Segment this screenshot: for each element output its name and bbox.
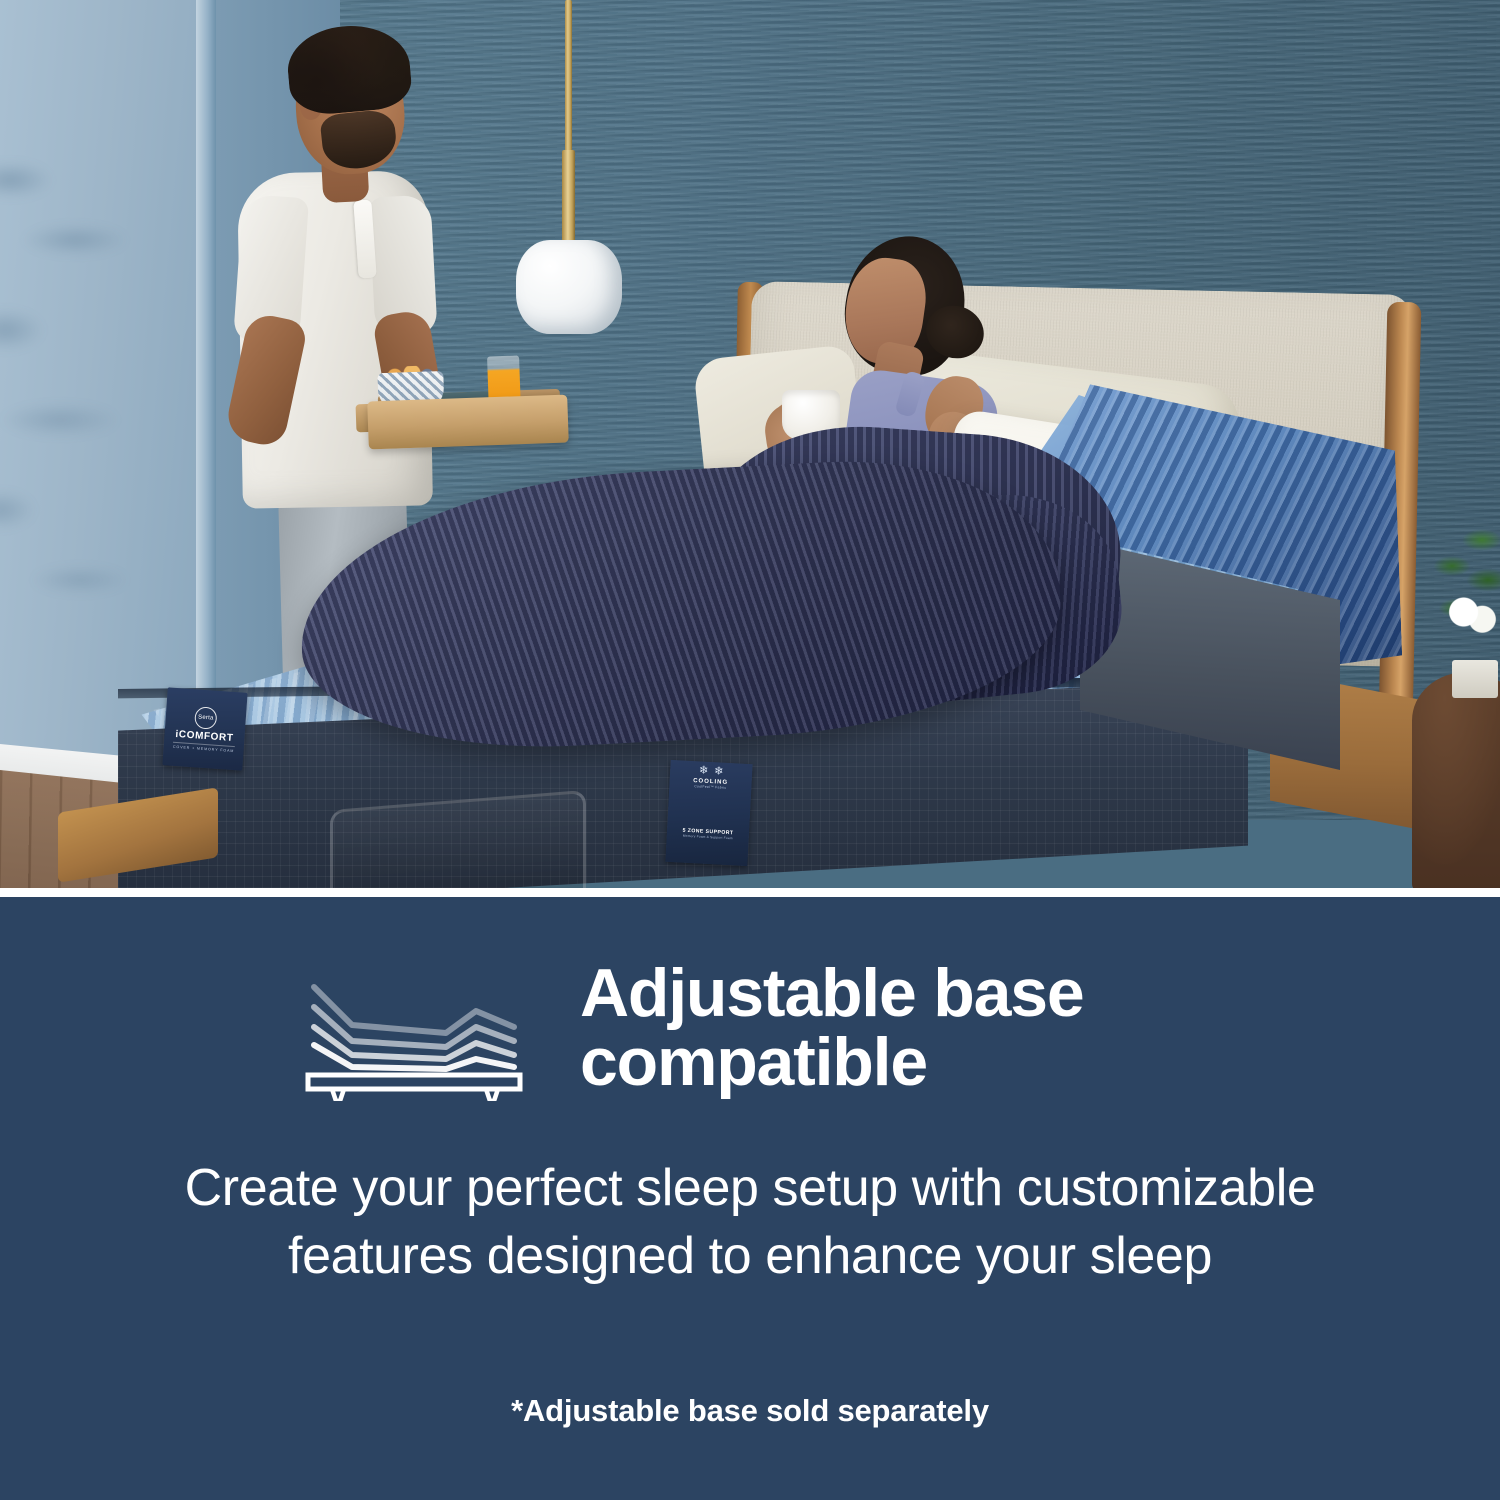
snowflake-icon: ❄: [699, 765, 709, 776]
pendant-lamp-stem: [562, 150, 575, 244]
cooling-badge: ❄ ❄ COOLING CoolFeel™ Fabric 5 ZONE SUPP…: [665, 760, 752, 866]
lifestyle-photo: Serta iCOMFORT COVER + MEMORY FOAM ❄ ❄ C…: [0, 0, 1500, 888]
serta-icomfort-badge: Serta iCOMFORT COVER + MEMORY FOAM: [162, 687, 247, 770]
nightstand-object: [1452, 660, 1498, 698]
plant-flower: [1448, 596, 1500, 636]
cooling-subtitle: CoolFeel™ Fabric: [694, 784, 726, 790]
product-feature-card: Serta iCOMFORT COVER + MEMORY FOAM ❄ ❄ C…: [0, 0, 1500, 1500]
feature-description: Create your perfect sleep setup with cus…: [150, 1155, 1350, 1290]
disclaimer-footnote: *Adjustable base sold separately: [0, 1393, 1500, 1429]
page-title: Adjustable base compatible: [580, 959, 1200, 1098]
serta-logo-text: Serta: [198, 714, 214, 721]
pendant-lamp-shade: [516, 240, 622, 334]
adjustable-bed-base-icon-wrap: [300, 959, 528, 1106]
serta-logo-icon: Serta: [194, 706, 217, 729]
headline-row: Adjustable base compatible: [0, 959, 1500, 1106]
adjustable-bed-base-icon: [300, 981, 528, 1101]
feature-panel: Adjustable base compatible Create your p…: [0, 897, 1500, 1500]
snowflake-icon: ❄: [714, 766, 724, 777]
zone-diagram-image: [674, 790, 744, 828]
snowflake-icons: ❄ ❄: [699, 765, 724, 777]
nightstand: [1412, 672, 1500, 888]
photo-panel-divider: [0, 888, 1500, 897]
